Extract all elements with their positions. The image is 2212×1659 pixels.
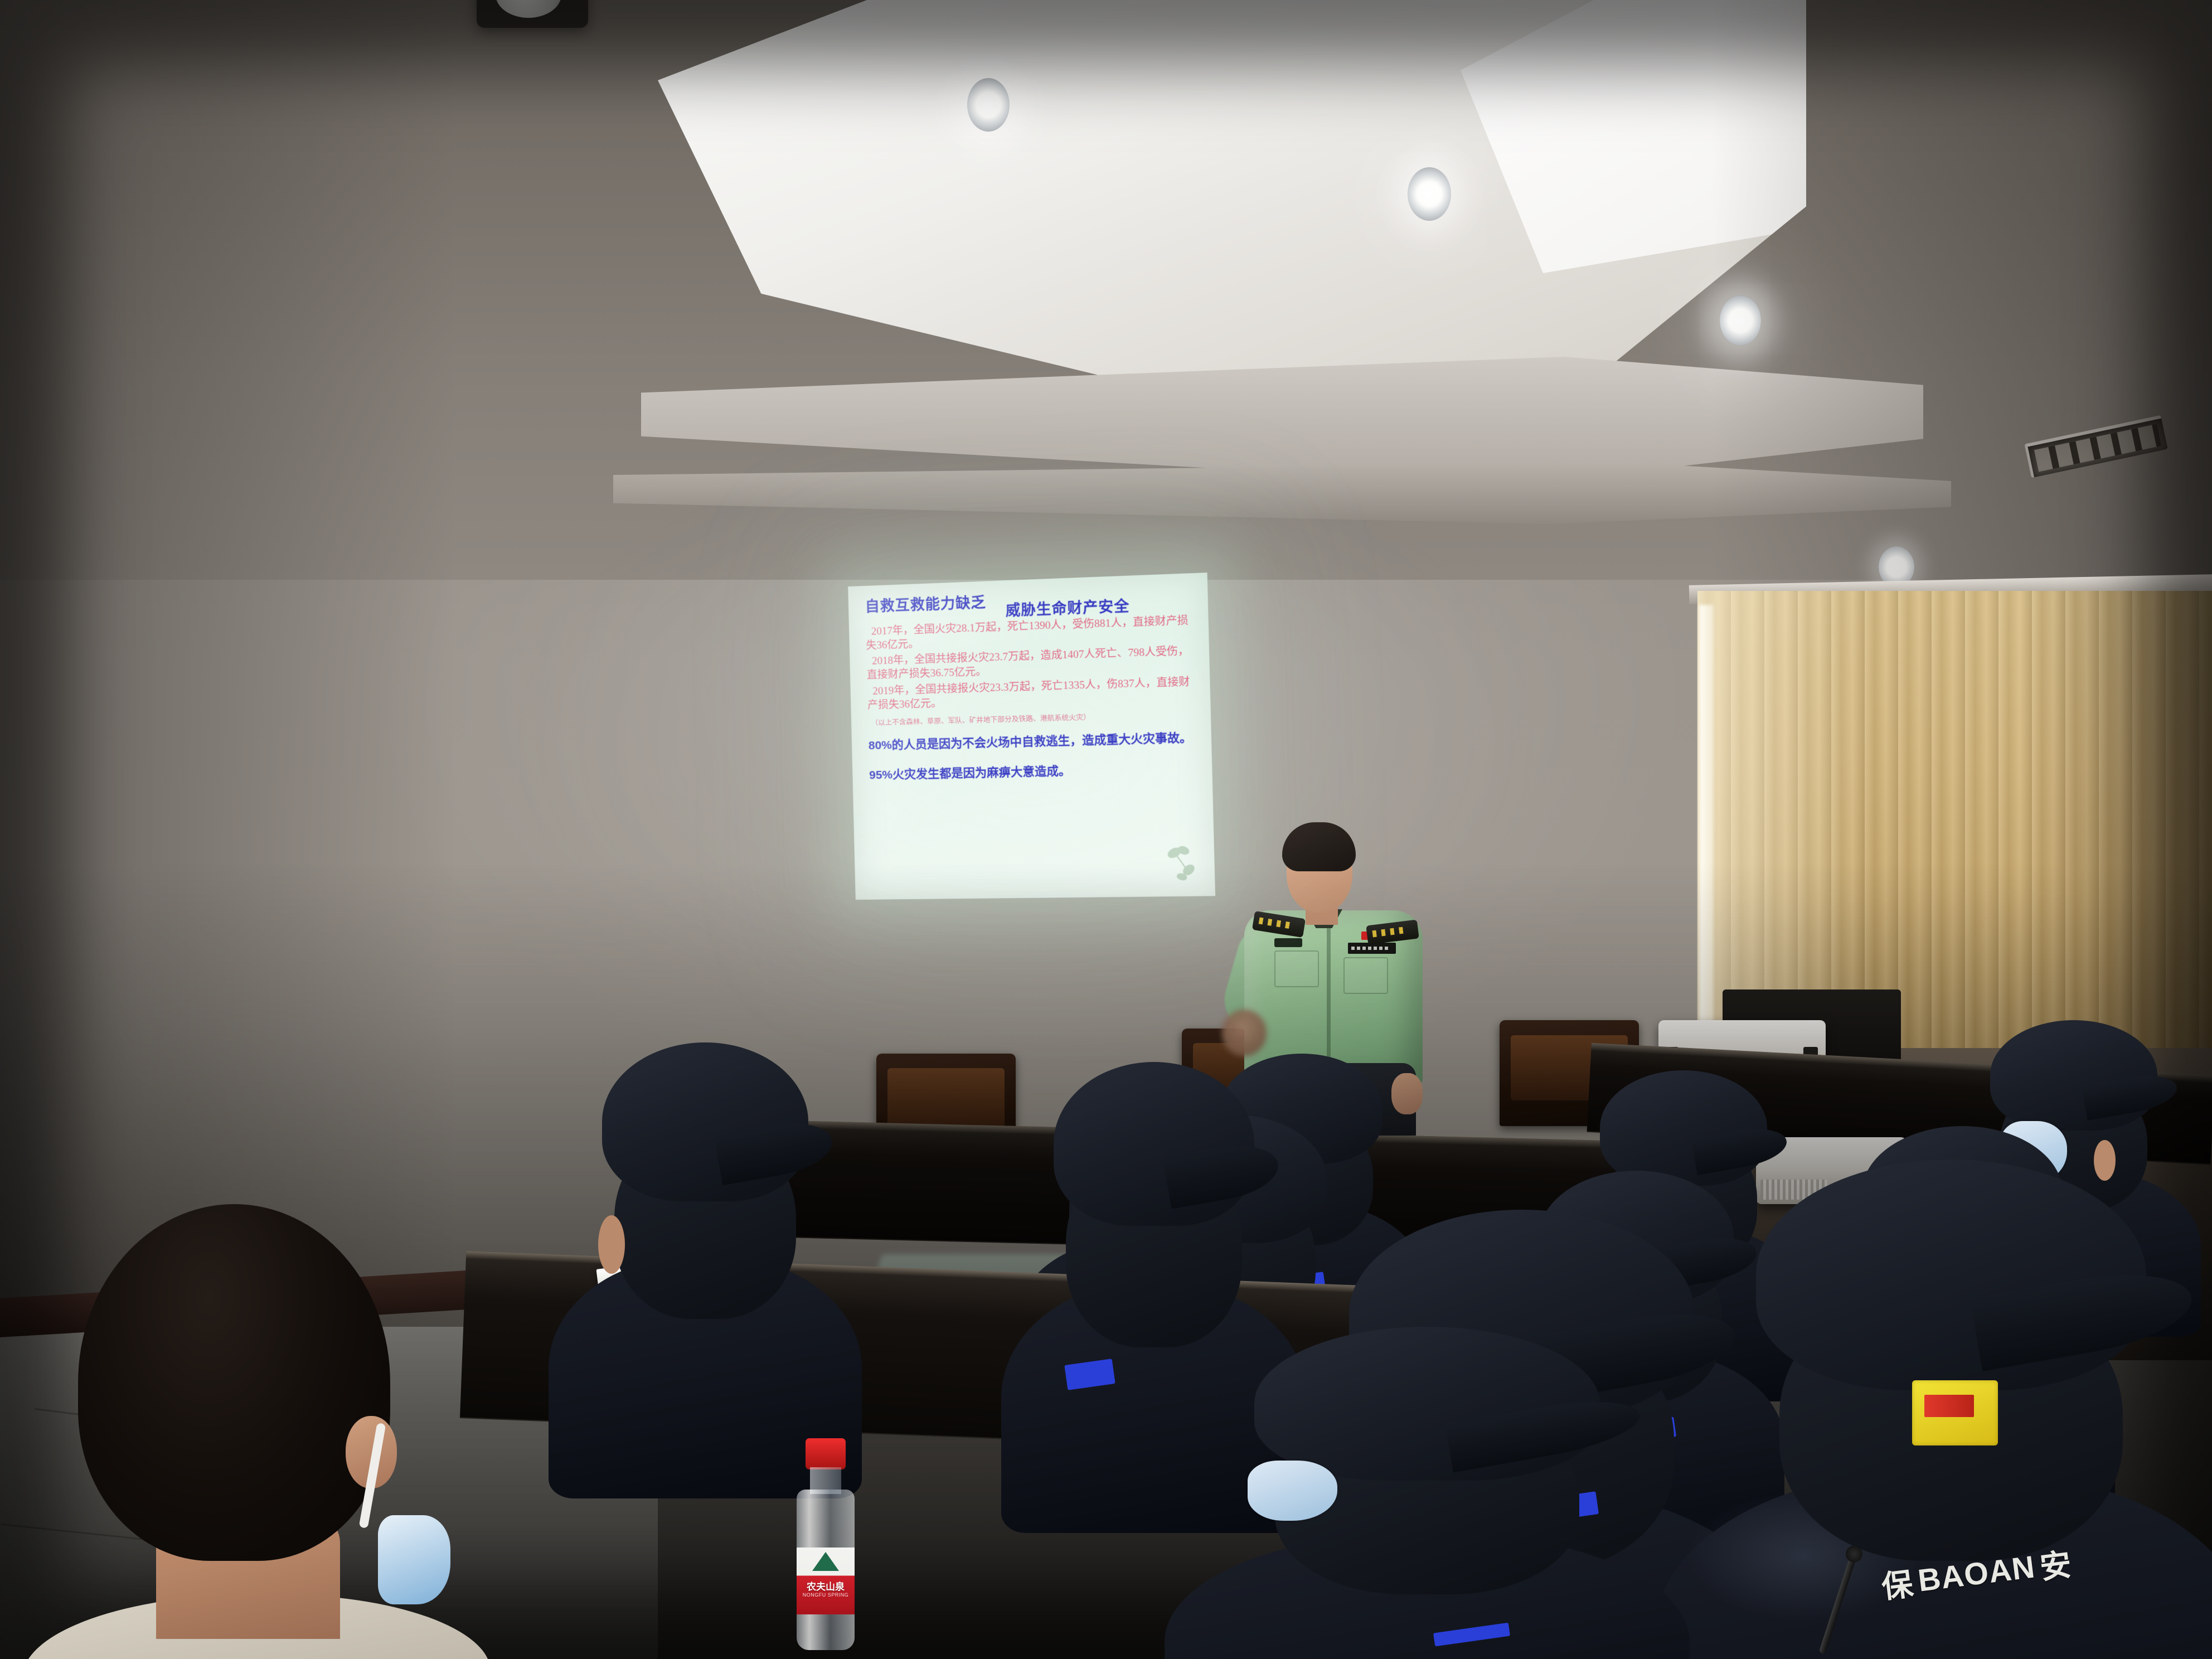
uniform-pocket — [1274, 950, 1319, 987]
downlight-icon — [967, 78, 1010, 132]
water-bottle: 农夫山泉 NONGFU SPRING — [789, 1438, 862, 1650]
decorative-leaf-icon — [1158, 842, 1202, 885]
bottle-cap — [806, 1438, 846, 1469]
back-patch-cn-right: 安 — [2037, 1539, 2074, 1588]
emphasis-text-95: 火灾发生都是因为麻痹大意造成。 — [892, 764, 1071, 781]
mountain-logo-icon — [812, 1552, 839, 1571]
guard-cap — [1600, 1070, 1767, 1186]
emphasis-text-80: 的人员是因为不会火场中自救逃生，造成重大火灾事故。 — [891, 730, 1192, 751]
projection-screen: 自救互救能力缺乏 威胁生命财产安全 2017年，全国火灾28.1万起，死亡139… — [848, 573, 1215, 900]
emphasis-percent-95: 95% — [869, 768, 892, 782]
guard-cap — [1254, 1327, 1600, 1481]
slide-emphasis-95: 95%火灾发生都是因为麻痹大意造成。 — [869, 760, 1197, 783]
window-light-strip — [1699, 605, 1714, 1068]
uniform-pocket — [1343, 957, 1388, 994]
shirt-placket — [1327, 920, 1331, 1071]
presenter-hand — [1391, 1073, 1423, 1114]
wall-clock — [477, 0, 588, 28]
ear — [598, 1215, 625, 1274]
back-patch-cn-left: 保 — [1879, 1559, 1916, 1607]
slide-statistics: 2017年，全国火灾28.1万起，死亡1390人，受伤881人，直接财产损失36… — [866, 613, 1195, 712]
presenter-hand-gesturing — [1222, 1010, 1267, 1056]
list-item — [602, 1042, 808, 1388]
uniform-badge — [1274, 938, 1302, 947]
downlight-icon — [1408, 167, 1451, 221]
list-item: 保 BAOAN 安 — [1756, 1160, 2146, 1659]
emphasis-percent-80: 80% — [869, 739, 892, 752]
slide-emphasis-80: 80%的人员是因为不会火场中自救逃生，造成重大火灾事故。 — [869, 730, 1196, 753]
guard-cap — [1756, 1160, 2146, 1390]
foreground-attendee — [56, 1204, 435, 1659]
face-mask — [1248, 1461, 1337, 1521]
list-item — [1054, 1062, 1254, 1419]
slide-footnote: （以上不含森林、草原、军队、矿井地下部分及铁路、港航系统火灾） — [868, 710, 1196, 728]
bottle-brand-en: NONGFU SPRING — [797, 1592, 855, 1598]
face-mask — [378, 1515, 450, 1604]
guard-cap — [602, 1042, 808, 1201]
conference-room-scene: 自救互救能力缺乏 威胁生命财产安全 2017年，全国火灾28.1万起，死亡139… — [0, 0, 2212, 1659]
guard-cap — [1054, 1062, 1254, 1226]
curtain-shadow — [2022, 591, 2212, 1081]
bottle-brand-cn: 农夫山泉 — [797, 1579, 855, 1593]
armband — [1912, 1380, 1998, 1445]
list-item — [1254, 1327, 1600, 1659]
name-tag — [1348, 943, 1396, 954]
hair — [78, 1204, 390, 1561]
guard-cap — [1990, 1020, 2157, 1131]
bottle-label: 农夫山泉 NONGFU SPRING — [797, 1548, 855, 1614]
slide-title-left: 自救互救能力缺乏 — [865, 594, 986, 615]
presenter-hair — [1282, 822, 1356, 871]
